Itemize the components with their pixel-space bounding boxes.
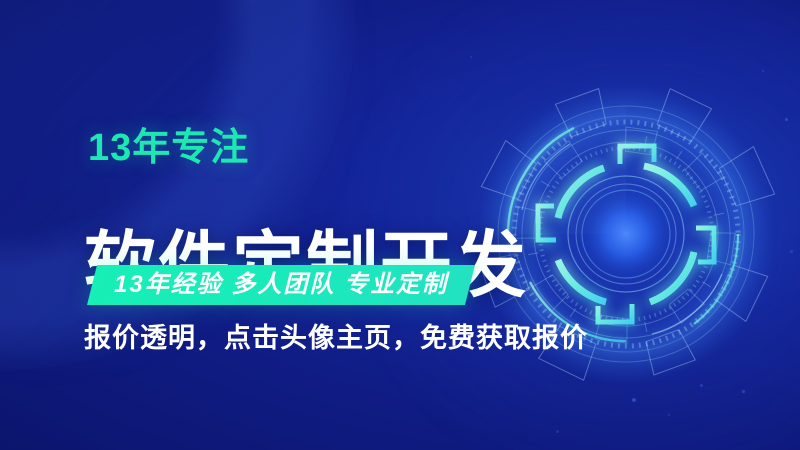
vignette-overlay — [0, 0, 800, 450]
promo-banner: 13年专注 软件定制开发 13年经验 多人团队 专业定制 报价透明，点击头像主页… — [0, 0, 800, 450]
